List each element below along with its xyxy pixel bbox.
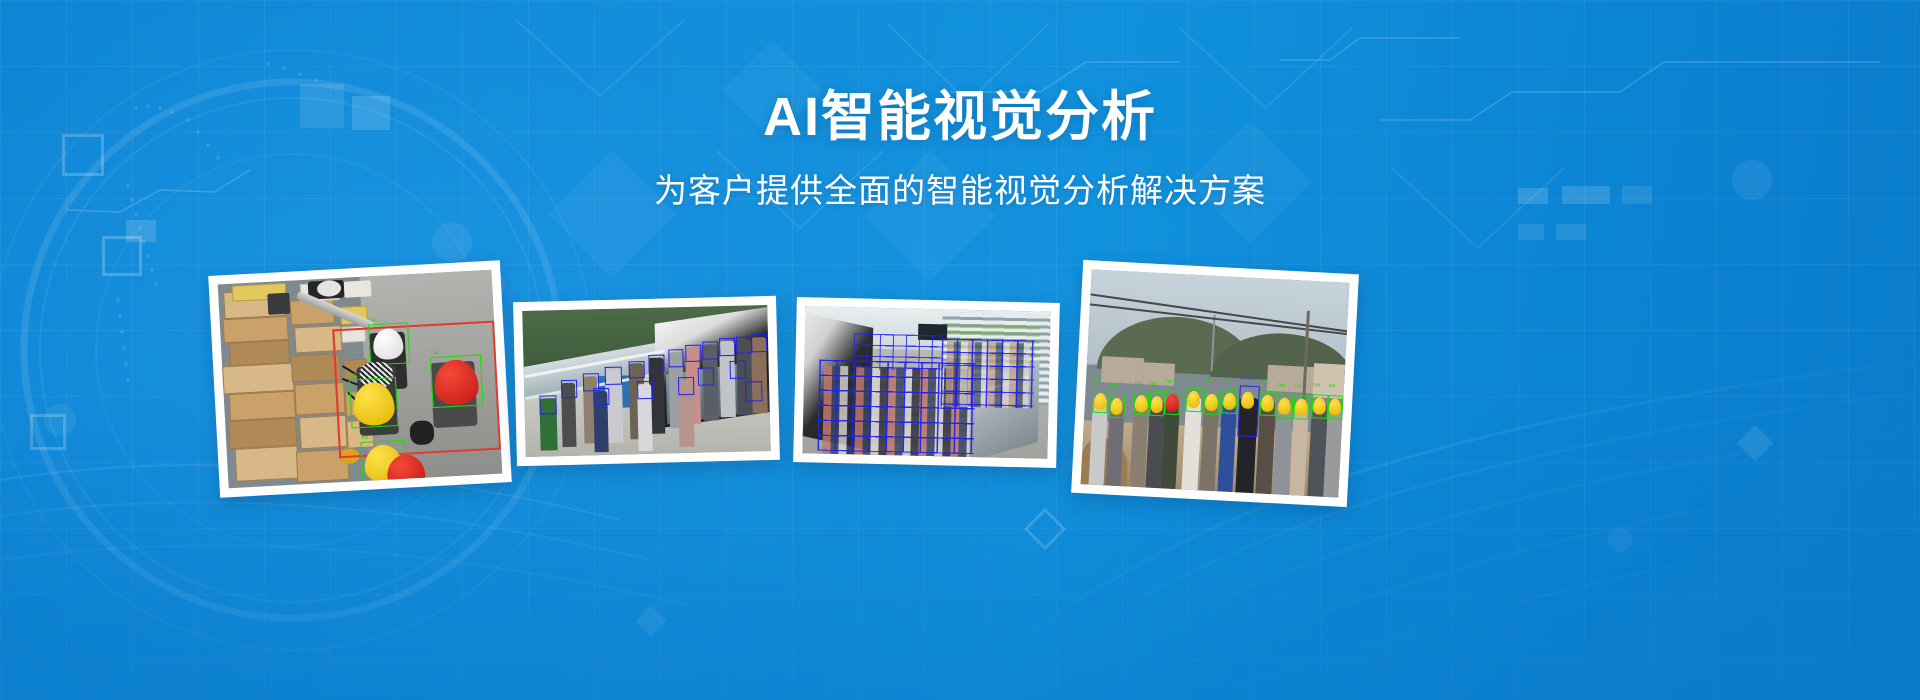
detection-tag-hat: hat [1261, 381, 1268, 386]
detection-tag-hat: hat [1187, 377, 1194, 382]
page-title: AI智能视觉分析 [0, 86, 1920, 148]
detection-tag-hat: hat [1278, 384, 1285, 389]
detection-tag-hat: hat [1166, 380, 1173, 385]
detection-tag-hat: hat [361, 436, 368, 441]
showcase-card-outdoor-hardhat-detection[interactable]: hat hat hat hat hat [1071, 260, 1359, 507]
detection-tag-hat: hat [1110, 383, 1117, 388]
detection-tag-person: person [1240, 376, 1256, 382]
detection-tag-hat: hat [431, 350, 438, 355]
deco-rect-fill-1 [126, 220, 156, 242]
detection-tag-hat: hat [1223, 379, 1230, 384]
detection-tag-hat: hat [1328, 384, 1335, 389]
detection-tag-hat: hat [1205, 380, 1212, 385]
detection-image-bridge [522, 305, 770, 457]
detection-image-station [802, 306, 1050, 459]
detection-image-warehouse: hat hat hat hat [218, 270, 503, 489]
detection-tag-hat: hat [369, 318, 376, 323]
showcase-card-station-crowd-density[interactable] [793, 297, 1060, 468]
detection-tag-hat: hat [1150, 381, 1157, 386]
detection-image-outdoor: hat hat hat hat hat [1081, 269, 1350, 497]
ai-vision-banner: AI智能视觉分析 为客户提供全面的智能视觉分析解决方案 [0, 0, 1920, 700]
showcase-card-bridge-crowd-face-detection[interactable] [513, 296, 780, 466]
deco-diamond-fill-2 [635, 605, 666, 636]
page-subtitle: 为客户提供全面的智能视觉分析解决方案 [0, 170, 1920, 213]
banner-copy: AI智能视觉分析 为客户提供全面的智能视觉分析解决方案 [0, 86, 1920, 213]
detection-tag-hat: hat [1094, 378, 1101, 383]
detection-tag-hat: hat [350, 373, 357, 378]
showcase-card-warehouse-helmet-detection[interactable]: hat hat hat hat [208, 260, 512, 497]
detection-tag-hat: hat [1135, 380, 1142, 385]
deco-rect-fill-5 [1518, 224, 1544, 240]
detection-tag-hat: hat [1313, 383, 1320, 388]
showcase-gallery: hat hat hat hat [0, 250, 1920, 530]
detection-tag-hat: hat [1295, 384, 1302, 389]
deco-rect-fill-6 [1556, 224, 1586, 240]
